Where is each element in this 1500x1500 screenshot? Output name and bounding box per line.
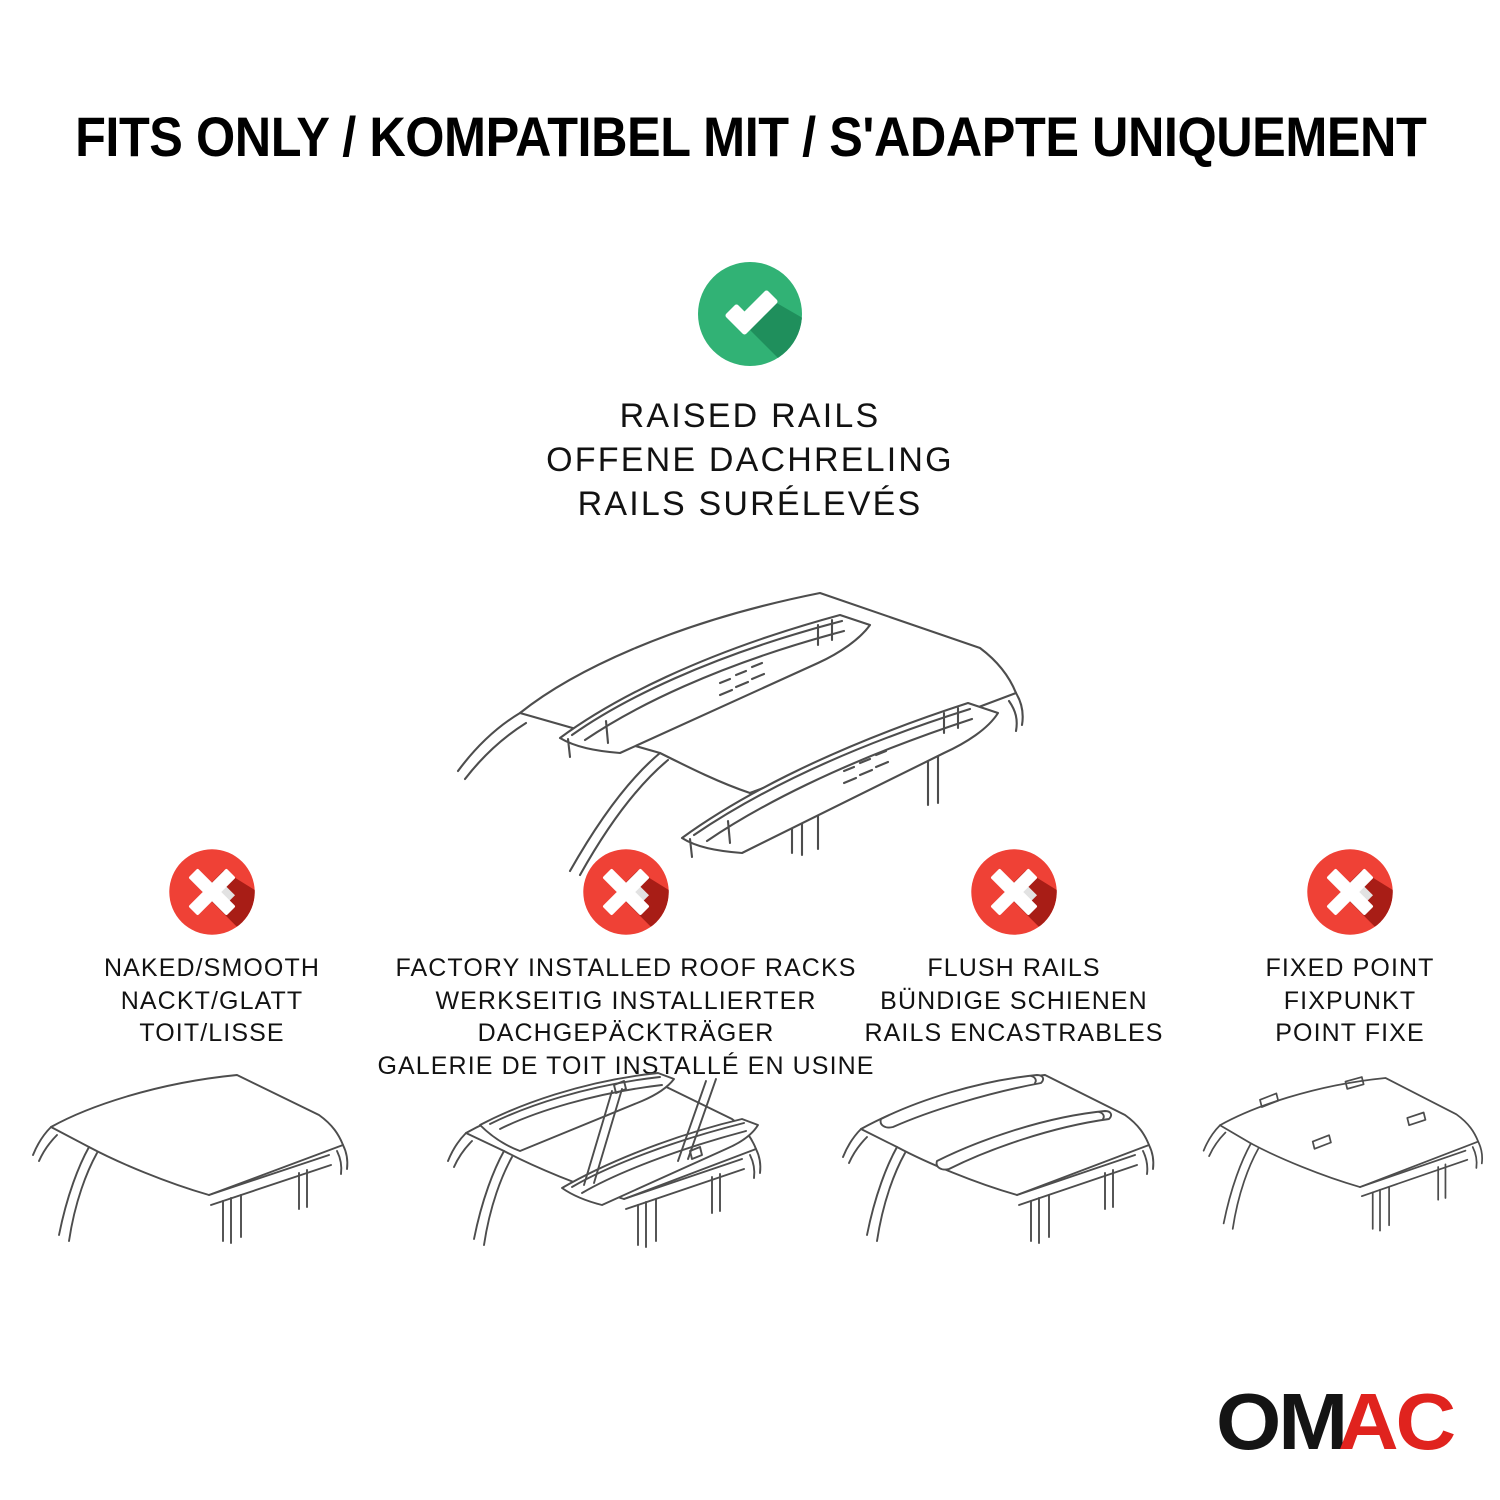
incompatible-item-flush-rails: FLUSH RAILS BÜNDIGE SCHIENEN RAILS ENCAS… <box>828 846 1200 1050</box>
caption-line: WERKSEITIG INSTALLIERTER <box>377 985 874 1018</box>
incompatible-caption-flush-rails: FLUSH RAILS BÜNDIGE SCHIENEN RAILS ENCAS… <box>864 952 1163 1050</box>
page-title-text: FITS ONLY / KOMPATIBEL MIT / S'ADAPTE UN… <box>75 104 1426 169</box>
caption-line: POINT FIXE <box>1265 1017 1434 1050</box>
raised-rails-illustration <box>420 553 1080 888</box>
compatible-caption-line-2: OFFENE DACHRELING <box>546 438 954 482</box>
cross-circle-icon <box>580 846 672 938</box>
omac-logo: OM AC <box>1216 1382 1448 1462</box>
caption-line: NACKT/GLATT <box>104 985 320 1018</box>
incompatible-captions-row: NAKED/SMOOTH NACKT/GLATT TOIT/LISSE FACT… <box>0 846 1500 1082</box>
caption-line: FLUSH RAILS <box>864 952 1163 985</box>
incompatible-item-fixed-point: FIXED POINT FIXPUNKT POINT FIXE <box>1200 846 1500 1050</box>
caption-line: TOIT/LISSE <box>104 1017 320 1050</box>
cross-circle-icon <box>166 846 258 938</box>
compatible-caption: RAISED RAILS OFFENE DACHRELING RAILS SUR… <box>546 394 954 527</box>
compatible-caption-line-1: RAISED RAILS <box>546 394 954 438</box>
incompatible-item-factory-racks: FACTORY INSTALLED ROOF RACKS WERKSEITIG … <box>424 846 828 1082</box>
caption-line: FIXPUNKT <box>1265 985 1434 1018</box>
caption-line: FIXED POINT <box>1265 952 1434 985</box>
caption-line: FACTORY INSTALLED ROOF RACKS <box>377 952 874 985</box>
compatible-caption-line-3: RAILS SURÉLEVÉS <box>546 482 954 526</box>
compatible-section: RAISED RAILS OFFENE DACHRELING RAILS SUR… <box>0 258 1500 888</box>
incompatible-caption-naked-smooth: NAKED/SMOOTH NACKT/GLATT TOIT/LISSE <box>104 952 320 1050</box>
cross-circle-icon <box>1304 846 1396 938</box>
flush-rails-illustration <box>828 1055 1200 1280</box>
page-title: FITS ONLY / KOMPATIBEL MIT / S'ADAPTE UN… <box>0 104 1500 169</box>
incompatible-item-naked-smooth: NAKED/SMOOTH NACKT/GLATT TOIT/LISSE <box>0 846 424 1050</box>
omac-logo-red-part: AC <box>1338 1382 1453 1462</box>
cross-circle-icon <box>968 846 1060 938</box>
caption-line: DACHGEPÄCKTRÄGER <box>377 1017 874 1050</box>
naked-smooth-illustration <box>0 1055 424 1280</box>
incompatible-illustrations-row <box>0 1055 1500 1290</box>
caption-line: RAILS ENCASTRABLES <box>864 1017 1163 1050</box>
check-circle-icon <box>694 258 806 370</box>
omac-logo-black-part: OM <box>1216 1382 1345 1462</box>
fixed-point-illustration <box>1200 1055 1500 1280</box>
caption-line: NAKED/SMOOTH <box>104 952 320 985</box>
caption-line: BÜNDIGE SCHIENEN <box>864 985 1163 1018</box>
factory-racks-illustration <box>424 1055 828 1290</box>
incompatible-caption-fixed-point: FIXED POINT FIXPUNKT POINT FIXE <box>1265 952 1434 1050</box>
